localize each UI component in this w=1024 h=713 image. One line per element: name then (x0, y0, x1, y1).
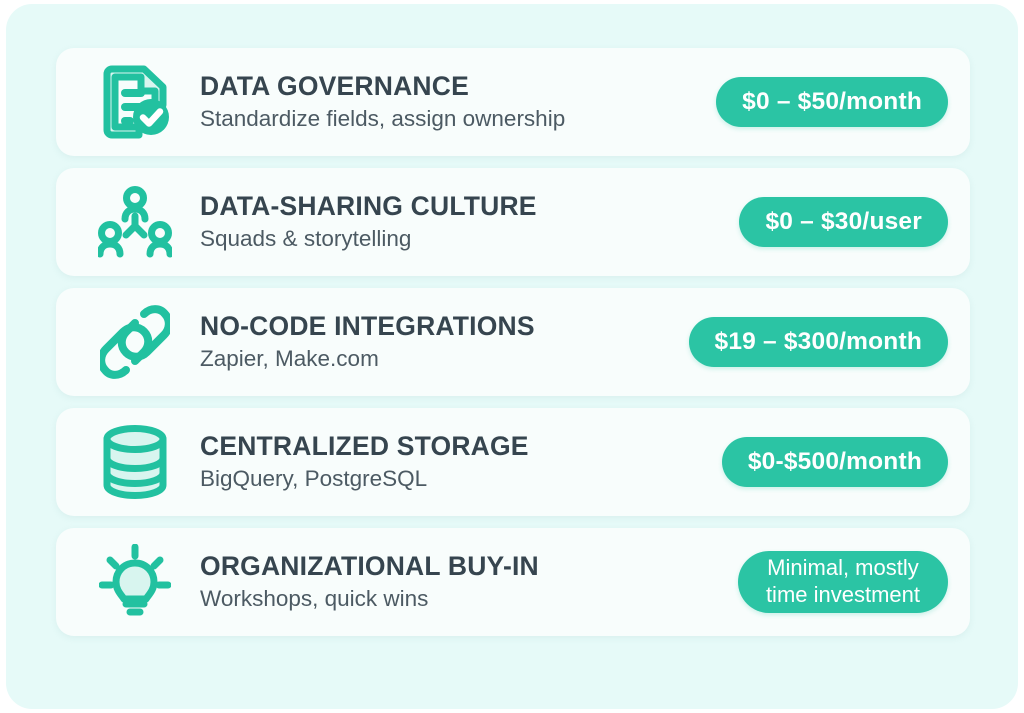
list-item[interactable]: CENTRALIZED STORAGE BigQuery, PostgreSQL… (56, 408, 970, 516)
row-subtitle: Standardize fields, assign ownership (200, 106, 716, 133)
row-subtitle: BigQuery, PostgreSQL (200, 466, 722, 493)
page-title: DATA GOVERNANCE (200, 72, 716, 102)
row-text-block: DATA GOVERNANCE Standardize fields, assi… (178, 72, 716, 132)
status-badge: $0 – $50/month (716, 77, 948, 127)
page-title: DATA-SHARING CULTURE (200, 192, 739, 222)
status-badge: Minimal, mostly time investment (738, 551, 948, 613)
page-title: NO-CODE INTEGRATIONS (200, 312, 689, 342)
status-badge: $0 – $30/user (739, 197, 948, 247)
database-icon (92, 423, 178, 501)
list-item[interactable]: ORGANIZATIONAL BUY-IN Workshops, quick w… (56, 528, 970, 636)
badge-line-1: Minimal, mostly (766, 555, 920, 582)
infographic-page: DATA GOVERNANCE Standardize fields, assi… (0, 0, 1024, 713)
row-text-block: CENTRALIZED STORAGE BigQuery, PostgreSQL (178, 432, 722, 492)
row-subtitle: Squads & storytelling (200, 226, 739, 253)
page-title: ORGANIZATIONAL BUY-IN (200, 552, 738, 582)
page-title: CENTRALIZED STORAGE (200, 432, 722, 462)
row-text-block: NO-CODE INTEGRATIONS Zapier, Make.com (178, 312, 689, 372)
capability-card-list: DATA GOVERNANCE Standardize fields, assi… (56, 48, 970, 636)
status-badge: $19 – $300/month (689, 317, 948, 367)
list-item[interactable]: DATA GOVERNANCE Standardize fields, assi… (56, 48, 970, 156)
badge-line-2: time investment (766, 582, 920, 609)
lightbulb-icon (92, 543, 178, 621)
row-subtitle: Zapier, Make.com (200, 346, 689, 373)
chain-link-icon (92, 303, 178, 381)
status-badge: $0-$500/month (722, 437, 948, 487)
row-subtitle: Workshops, quick wins (200, 586, 738, 613)
row-text-block: DATA-SHARING CULTURE Squads & storytelli… (178, 192, 739, 252)
document-check-icon (92, 63, 178, 141)
list-item[interactable]: NO-CODE INTEGRATIONS Zapier, Make.com $1… (56, 288, 970, 396)
row-text-block: ORGANIZATIONAL BUY-IN Workshops, quick w… (178, 552, 738, 612)
team-hierarchy-icon (92, 183, 178, 261)
list-item[interactable]: DATA-SHARING CULTURE Squads & storytelli… (56, 168, 970, 276)
